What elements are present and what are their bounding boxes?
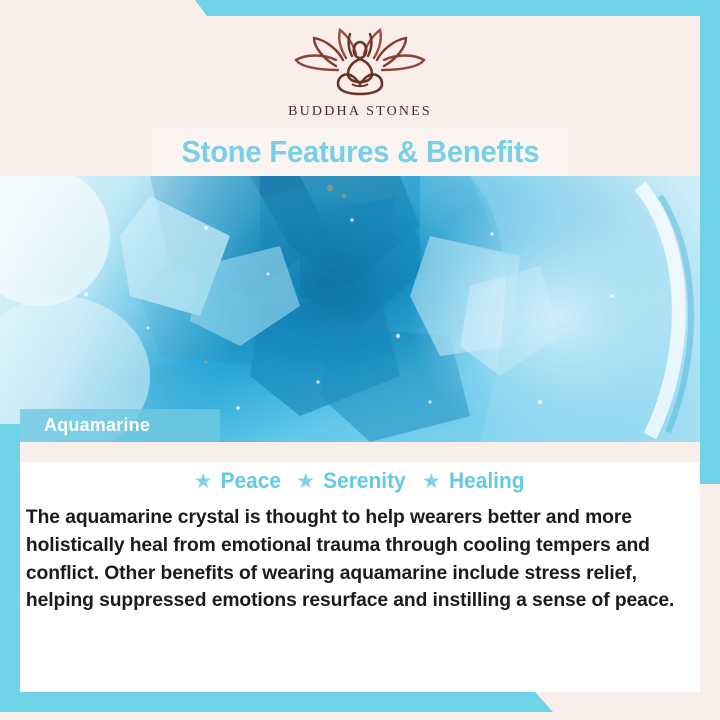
aquamarine-crystal-image	[0, 176, 720, 442]
brand-logo: BUDDHA STONES	[0, 26, 720, 120]
stone-features-infographic: BUDDHA STONES	[0, 0, 720, 720]
benefit-label-serenity: Serenity	[323, 468, 405, 494]
star-icon: ★	[194, 471, 213, 492]
page-title-plate: Stone Features & Benefits	[152, 128, 568, 176]
page-title: Stone Features & Benefits	[181, 134, 539, 170]
stone-name-label: Aquamarine	[44, 415, 150, 436]
benefit-item-serenity: ★ Serenity	[296, 468, 408, 494]
brand-name: BUDDHA STONES	[0, 104, 720, 120]
star-icon: ★	[296, 471, 315, 492]
decor-bottom-cream-strip	[0, 712, 720, 720]
stone-description: The aquamarine crystal is thought to hel…	[20, 504, 690, 615]
benefit-item-healing: ★ Healing	[422, 468, 526, 494]
content-panel: ★ Peace ★ Serenity ★ Healing The aquamar…	[20, 462, 700, 692]
star-icon: ★	[422, 471, 441, 492]
crystal-photo: Aquamarine	[0, 176, 720, 442]
benefit-item-peace: ★ Peace	[194, 468, 282, 494]
decor-band-left	[0, 424, 20, 696]
content-top-strip	[20, 442, 700, 462]
decor-band-bottom	[0, 692, 720, 712]
decor-band-right	[700, 0, 720, 484]
benefits-row: ★ Peace ★ Serenity ★ Healing	[20, 462, 700, 494]
benefit-label-healing: Healing	[449, 468, 524, 494]
benefit-label-peace: Peace	[220, 468, 280, 494]
stone-name-badge: Aquamarine	[20, 409, 220, 442]
lotus-meditation-icon	[280, 26, 440, 102]
